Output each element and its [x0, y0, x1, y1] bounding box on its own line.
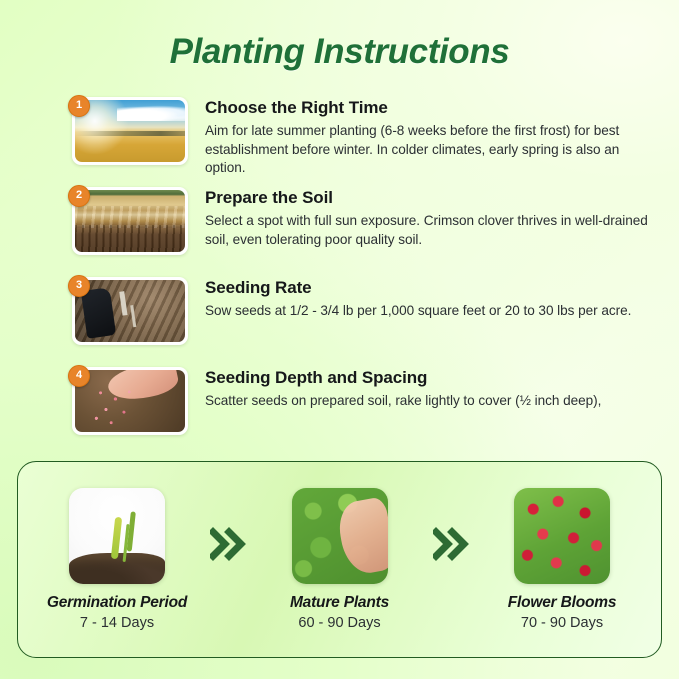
step-image: [75, 370, 185, 432]
plowed-field-photo: [75, 190, 185, 252]
double-chevron-right-icon: [431, 527, 471, 561]
boot-and-shovel-digging-photo: [75, 280, 185, 342]
timeline-stage-days: 7 - 14 Days: [42, 615, 192, 631]
step-number-badge: 3: [68, 275, 90, 297]
step-description: Aim for late summer planting (6-8 weeks …: [205, 122, 661, 178]
step-number-badge: 2: [68, 185, 90, 207]
step-text: Seeding Rate Sow seeds at 1/2 - 3/4 lb p…: [197, 268, 679, 321]
timeline-stage-days: 60 - 90 Days: [265, 615, 415, 631]
step-text: Seeding Depth and Spacing Scatter seeds …: [197, 358, 679, 411]
wheat-field-sunrise-photo: [75, 100, 185, 162]
timeline-stage-label: Germination Period: [42, 594, 192, 612]
timeline-stage-label: Flower Blooms: [487, 594, 637, 612]
step-image: [75, 100, 185, 162]
timeline-stage: Flower Blooms 70 - 90 Days: [487, 488, 637, 631]
double-chevron-right-icon: [208, 527, 248, 561]
seed-sprout-photo: [69, 488, 165, 584]
step-image: [75, 280, 185, 342]
step-description: Sow seeds at 1/2 - 3/4 lb per 1,000 squa…: [205, 302, 661, 321]
step-number-badge: 4: [68, 365, 90, 387]
step-item: 3 Seeding Rate Sow seeds at 1/2 - 3/4 lb…: [0, 268, 679, 358]
step-media: 3: [72, 268, 197, 345]
step-image: [75, 190, 185, 252]
step-thumbnail-card: 3: [72, 277, 188, 345]
hand-scattering-seeds-photo: [75, 370, 185, 432]
step-thumbnail-card: 1: [72, 97, 188, 165]
step-item: 2 Prepare the Soil Select a spot with fu…: [0, 178, 679, 268]
clover-leaves-with-hand-photo: [292, 488, 388, 584]
infographic-page: Planting Instructions 1 Choose the Right…: [0, 0, 679, 679]
step-item: 4 Seeding Depth and Spacing Scatter seed…: [0, 358, 679, 448]
step-thumbnail-card: 4: [72, 367, 188, 435]
step-title: Choose the Right Time: [205, 98, 661, 118]
timeline-stage-days: 70 - 90 Days: [487, 615, 637, 631]
step-title: Seeding Rate: [205, 278, 661, 298]
step-description: Scatter seeds on prepared soil, rake lig…: [205, 392, 661, 411]
step-title: Prepare the Soil: [205, 188, 661, 208]
step-thumbnail-card: 2: [72, 187, 188, 255]
page-title: Planting Instructions: [0, 32, 679, 72]
timeline-stage: Germination Period 7 - 14 Days: [42, 488, 192, 631]
step-description: Select a spot with full sun exposure. Cr…: [205, 212, 661, 249]
crimson-clover-blooms-photo: [514, 488, 610, 584]
step-title: Seeding Depth and Spacing: [205, 368, 661, 388]
growth-timeline-panel: Germination Period 7 - 14 Days Mature Pl…: [17, 461, 662, 658]
step-text: Choose the Right Time Aim for late summe…: [197, 88, 679, 178]
step-media: 1: [72, 88, 197, 165]
step-item: 1 Choose the Right Time Aim for late sum…: [0, 88, 679, 178]
timeline-stage: Mature Plants 60 - 90 Days: [265, 488, 415, 631]
timeline-stage-label: Mature Plants: [265, 594, 415, 612]
step-media: 4: [72, 358, 197, 435]
steps-list: 1 Choose the Right Time Aim for late sum…: [0, 88, 679, 448]
step-media: 2: [72, 178, 197, 255]
step-number-badge: 1: [68, 95, 90, 117]
step-text: Prepare the Soil Select a spot with full…: [197, 178, 679, 249]
